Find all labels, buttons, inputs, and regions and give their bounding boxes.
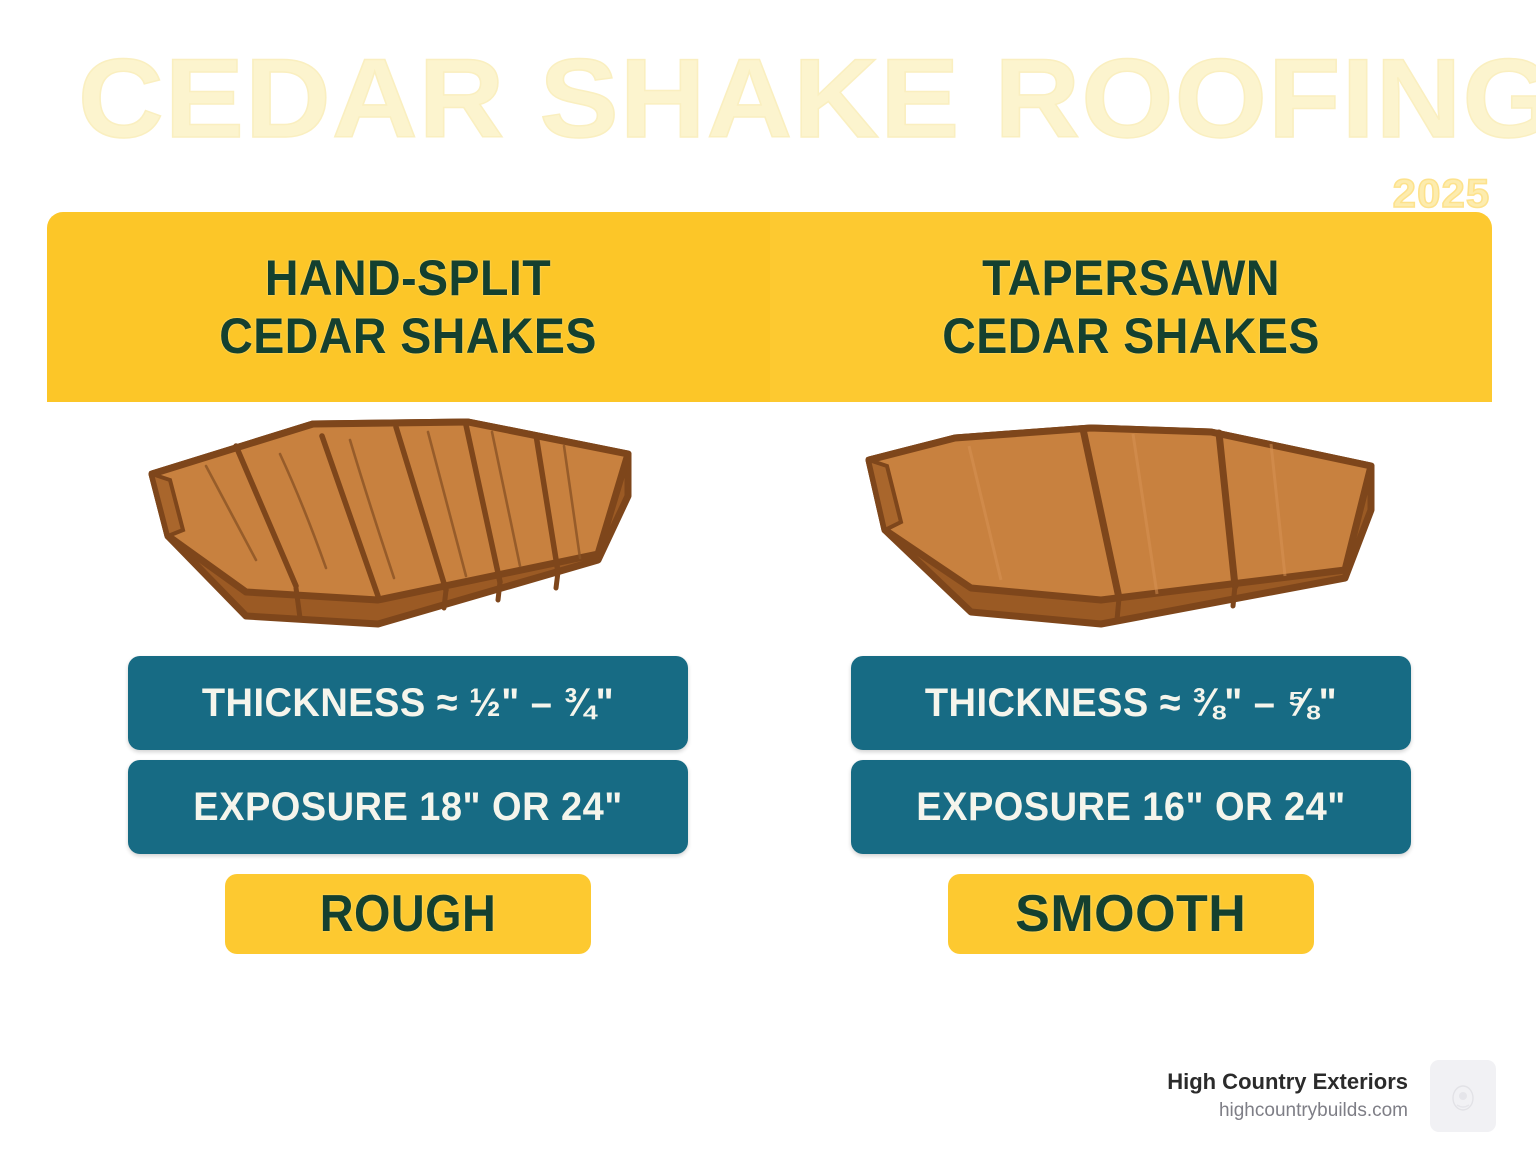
footer-text-block: High Country Exteriors highcountrybuilds… (1167, 1067, 1408, 1125)
column-header-tapersawn-label: TAPERSAWN CEDAR SHAKES (942, 249, 1320, 365)
logo-placeholder (1430, 1060, 1496, 1132)
brand-website: highcountrybuilds.com (1167, 1097, 1408, 1125)
footer: High Country Exteriors highcountrybuilds… (1167, 1060, 1496, 1132)
comparison-header-band: HAND-SPLIT CEDAR SHAKES TAPERSAWN CEDAR … (47, 212, 1492, 402)
spec-thickness-tapersawn: THICKNESS ≈ ⅜" – ⅝" (851, 656, 1411, 750)
tapersawn-shake-illustration (851, 410, 1411, 642)
texture-badge-smooth: SMOOTH (948, 874, 1314, 954)
spec-thickness-tapersawn-label: THICKNESS ≈ ⅜" – ⅝" (925, 681, 1337, 726)
spec-exposure-tapersawn: EXPOSURE 16" OR 24" (851, 760, 1411, 854)
spec-exposure-hand-split-label: EXPOSURE 18" OR 24" (194, 785, 623, 830)
texture-badge-rough: ROUGH (225, 874, 591, 954)
column-hand-split: THICKNESS ≈ ½" – ¾" EXPOSURE 18" OR 24" … (47, 402, 770, 1002)
hand-split-shake-illustration (128, 410, 688, 642)
spec-thickness-hand-split-label: THICKNESS ≈ ½" – ¾" (202, 681, 614, 726)
year-badge: 2025 (1393, 172, 1491, 217)
spec-exposure-hand-split: EXPOSURE 18" OR 24" (128, 760, 688, 854)
texture-badge-smooth-label: SMOOTH (1015, 884, 1246, 944)
column-header-hand-split-label: HAND-SPLIT CEDAR SHAKES (219, 249, 597, 365)
brand-name: High Country Exteriors (1167, 1067, 1408, 1097)
image-placeholder-icon (1449, 1080, 1477, 1112)
column-header-tapersawn: TAPERSAWN CEDAR SHAKES (770, 212, 1493, 402)
column-tapersawn: THICKNESS ≈ ⅜" – ⅝" EXPOSURE 16" OR 24" … (770, 402, 1493, 1002)
infographic-canvas: CEDAR SHAKE ROOFING 2025 HAND-SPLIT CEDA… (0, 0, 1536, 1154)
comparison-columns: THICKNESS ≈ ½" – ¾" EXPOSURE 18" OR 24" … (47, 402, 1492, 1002)
column-header-hand-split: HAND-SPLIT CEDAR SHAKES (47, 212, 770, 402)
texture-badge-rough-label: ROUGH (320, 884, 496, 944)
spec-exposure-tapersawn-label: EXPOSURE 16" OR 24" (916, 785, 1345, 830)
page-title: CEDAR SHAKE ROOFING (78, 40, 1536, 158)
spec-thickness-hand-split: THICKNESS ≈ ½" – ¾" (128, 656, 688, 750)
